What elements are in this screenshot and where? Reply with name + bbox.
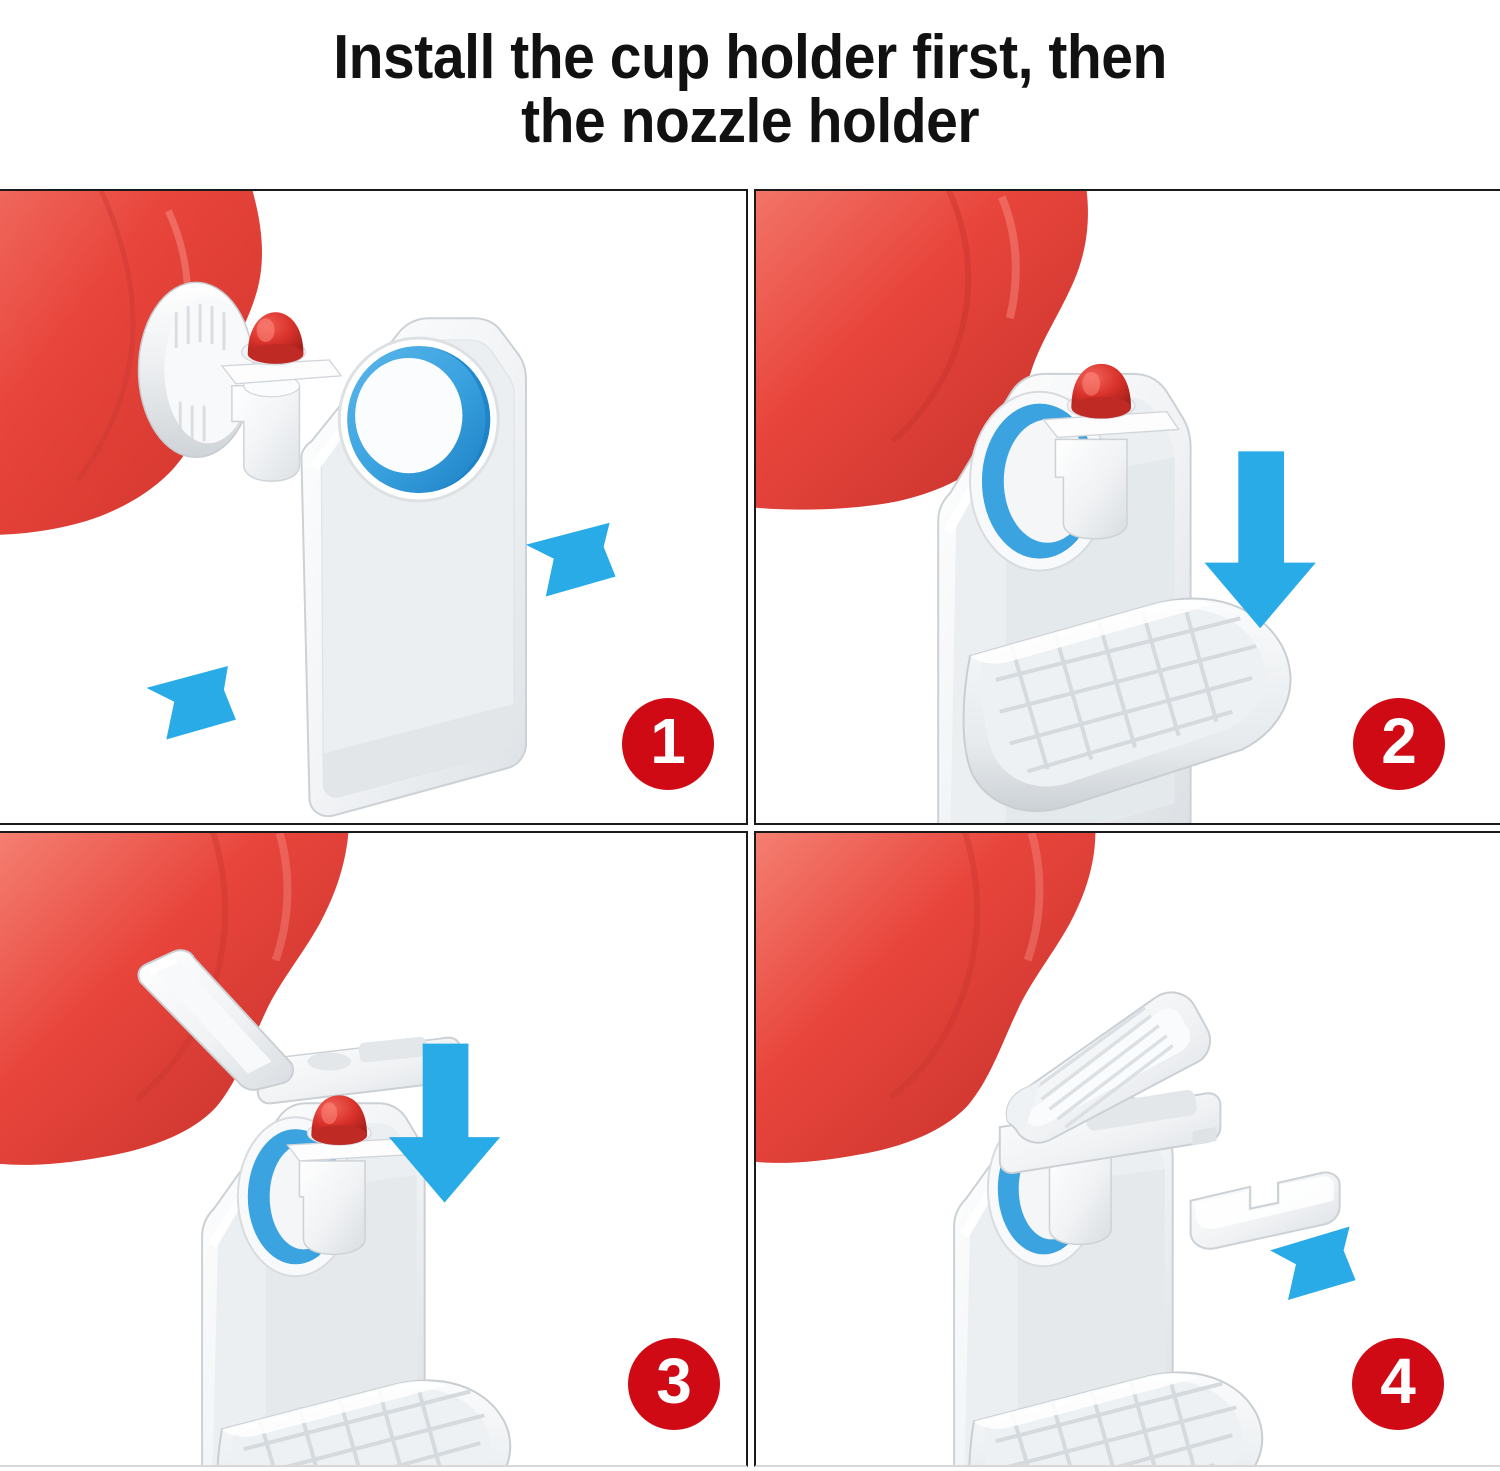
step-badge-4: 4 [1352,1338,1444,1430]
nozzle-red-button [248,312,304,364]
step-number-3: 3 [656,1349,692,1413]
steps-grid [0,189,1500,1467]
arrow-up-left-lower [146,666,235,740]
nozzle-red-button [1071,364,1131,419]
step-number-2: 2 [1381,709,1417,773]
blue-silicone-ring [339,338,498,501]
step-number-1: 1 [650,709,686,773]
arrow-up-left-upper [526,523,615,597]
arrow-up-left [1270,1227,1355,1301]
page-title: Install the cup holder first, then the n… [333,26,1167,154]
step-badge-1: 1 [622,698,714,790]
instruction-sheet: Install the cup holder first, then the n… [0,0,1500,1471]
step-number-4: 4 [1380,1349,1416,1413]
title-line-2: the nozzle holder [333,90,1167,154]
title-line-1: Install the cup holder first, then [333,23,1167,92]
step-badge-3: 3 [628,1338,720,1430]
title-area: Install the cup holder first, then the n… [0,0,1500,180]
step-badge-2: 2 [1353,698,1445,790]
